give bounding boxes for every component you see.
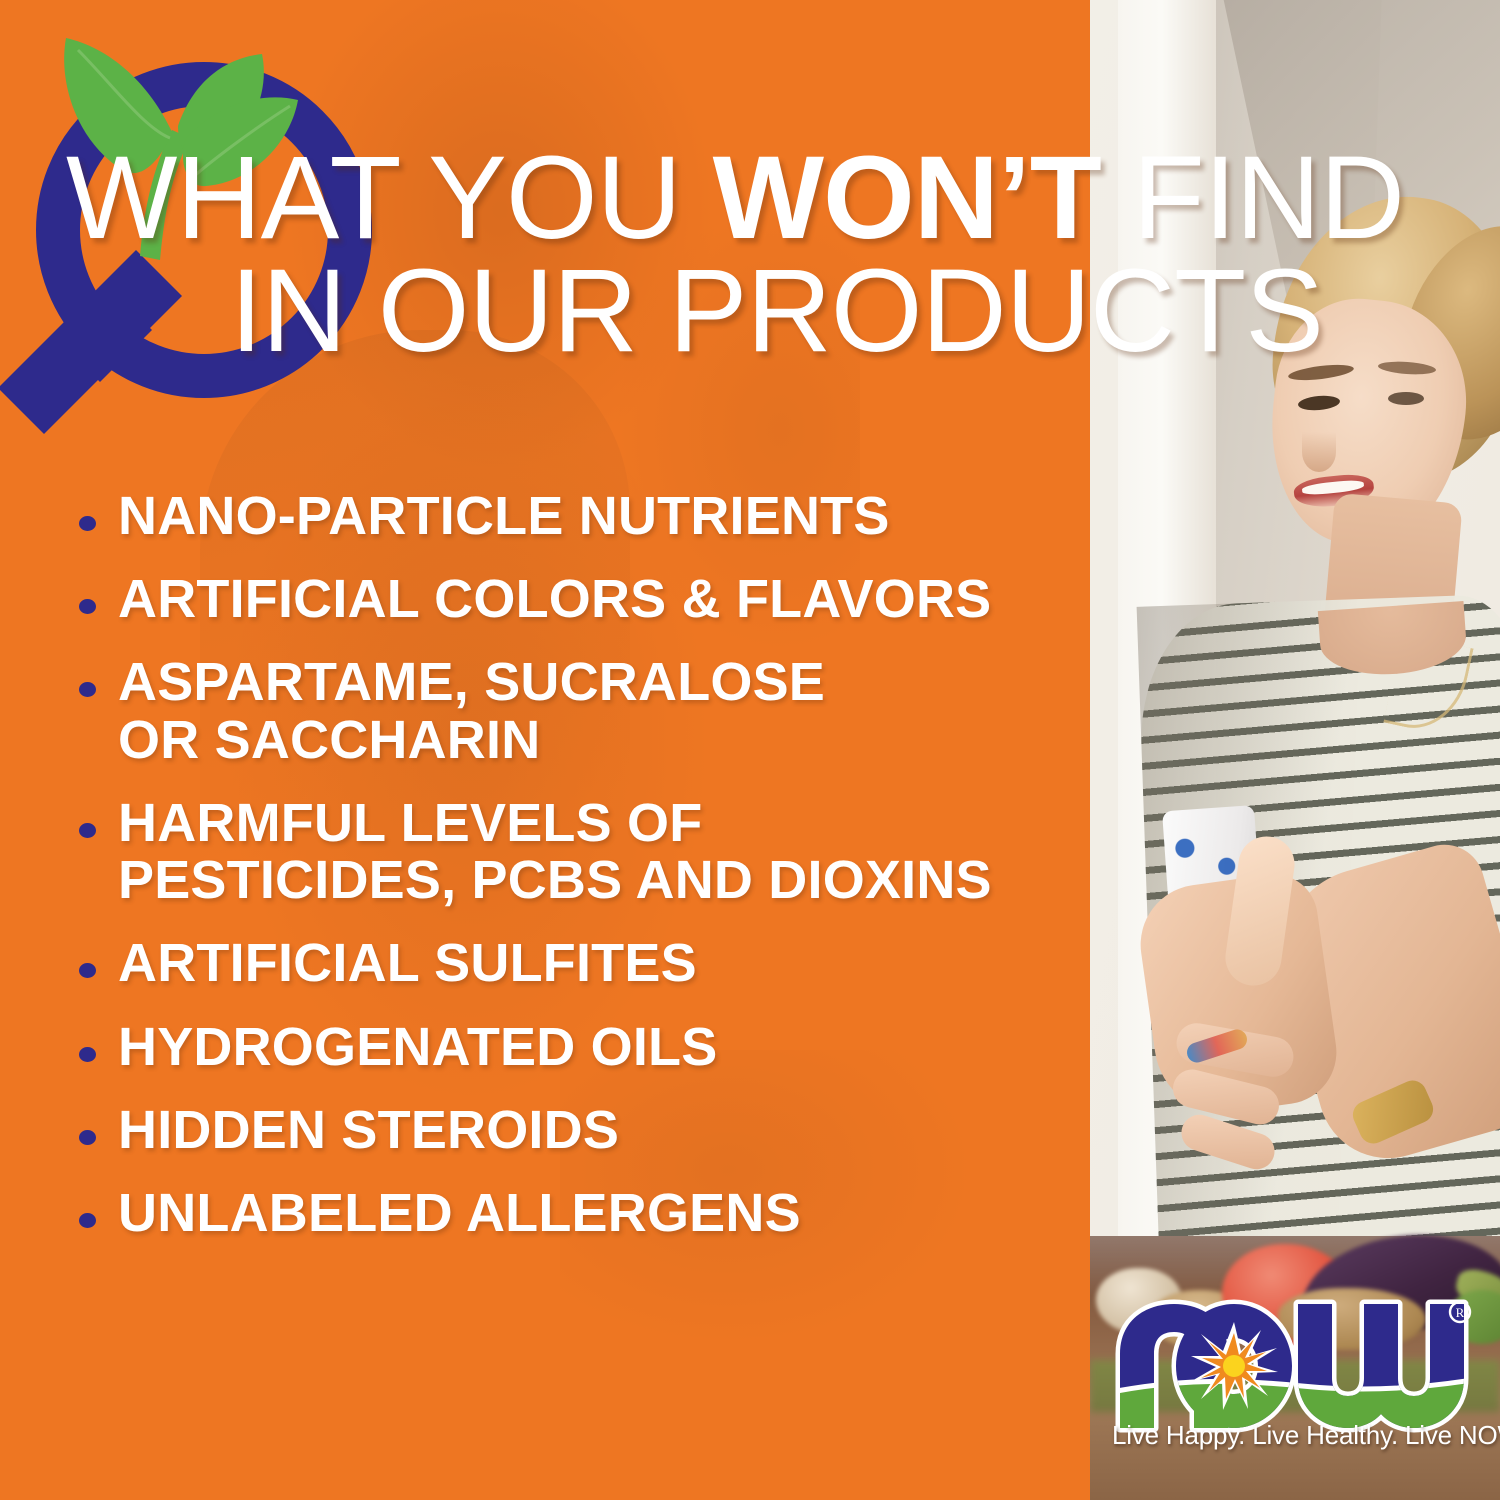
headline-line-1: WHAT YOU WON’T FIND <box>0 142 1500 255</box>
marketing-banner: WHAT YOU WON’T FIND IN OUR PRODUCTS NANO… <box>0 0 1500 1500</box>
headline-line-2: IN OUR PRODUCTS <box>0 255 1500 368</box>
bullet-dot-icon <box>79 963 96 978</box>
list-item-label: ASPARTAME, SUCRALOSE OR SACCHARIN <box>118 654 1070 768</box>
bullet-dot-icon <box>79 823 96 838</box>
list-item-label: ARTIFICIAL COLORS & FLAVORS <box>118 571 1070 628</box>
bullet-dot-icon <box>79 516 96 531</box>
woman-nose <box>1302 432 1336 472</box>
exclusion-list: NANO-PARTICLE NUTRIENTS ARTIFICIAL COLOR… <box>70 488 1070 1268</box>
bullet-dot-icon <box>79 599 96 614</box>
list-item: ARTIFICIAL SULFITES <box>70 935 1070 992</box>
woman-eye-right <box>1388 392 1424 405</box>
bullet-dot-icon <box>79 1047 96 1062</box>
page-title: WHAT YOU WON’T FIND IN OUR PRODUCTS <box>0 142 1500 369</box>
list-item: ASPARTAME, SUCRALOSE OR SACCHARIN <box>70 654 1070 768</box>
list-item-label: HIDDEN STEROIDS <box>118 1102 1070 1159</box>
list-item: HARMFUL LEVELS OF PESTICIDES, PCBS AND D… <box>70 795 1070 909</box>
list-item-label: NANO-PARTICLE NUTRIENTS <box>118 488 1070 545</box>
now-logo-fill <box>1112 1296 1472 1436</box>
bullet-dot-icon <box>79 1130 96 1145</box>
list-item-label: UNLABELED ALLERGENS <box>118 1185 1070 1242</box>
bullet-dot-icon <box>79 682 96 697</box>
headline-emphasis-wont: WON’T <box>713 132 1101 264</box>
headline-line1-post: FIND <box>1101 132 1404 264</box>
now-brand-logo: R <box>1112 1296 1472 1436</box>
list-item: HYDROGENATED OILS <box>70 1019 1070 1076</box>
list-item: HIDDEN STEROIDS <box>70 1102 1070 1159</box>
bullet-dot-icon <box>79 1213 96 1228</box>
list-item-label: HARMFUL LEVELS OF PESTICIDES, PCBS AND D… <box>118 795 1070 909</box>
list-item-label: ARTIFICIAL SULFITES <box>118 935 1070 992</box>
brand-tagline: Live Happy. Live Healthy. Live NOW. <box>1112 1420 1472 1451</box>
list-item: ARTIFICIAL COLORS & FLAVORS <box>70 571 1070 628</box>
list-item: NANO-PARTICLE NUTRIENTS <box>70 488 1070 545</box>
svg-text:R: R <box>1456 1305 1465 1320</box>
list-item-label: HYDROGENATED OILS <box>118 1019 1070 1076</box>
list-item: UNLABELED ALLERGENS <box>70 1185 1070 1242</box>
headline-line1-pre: WHAT YOU <box>66 132 713 264</box>
